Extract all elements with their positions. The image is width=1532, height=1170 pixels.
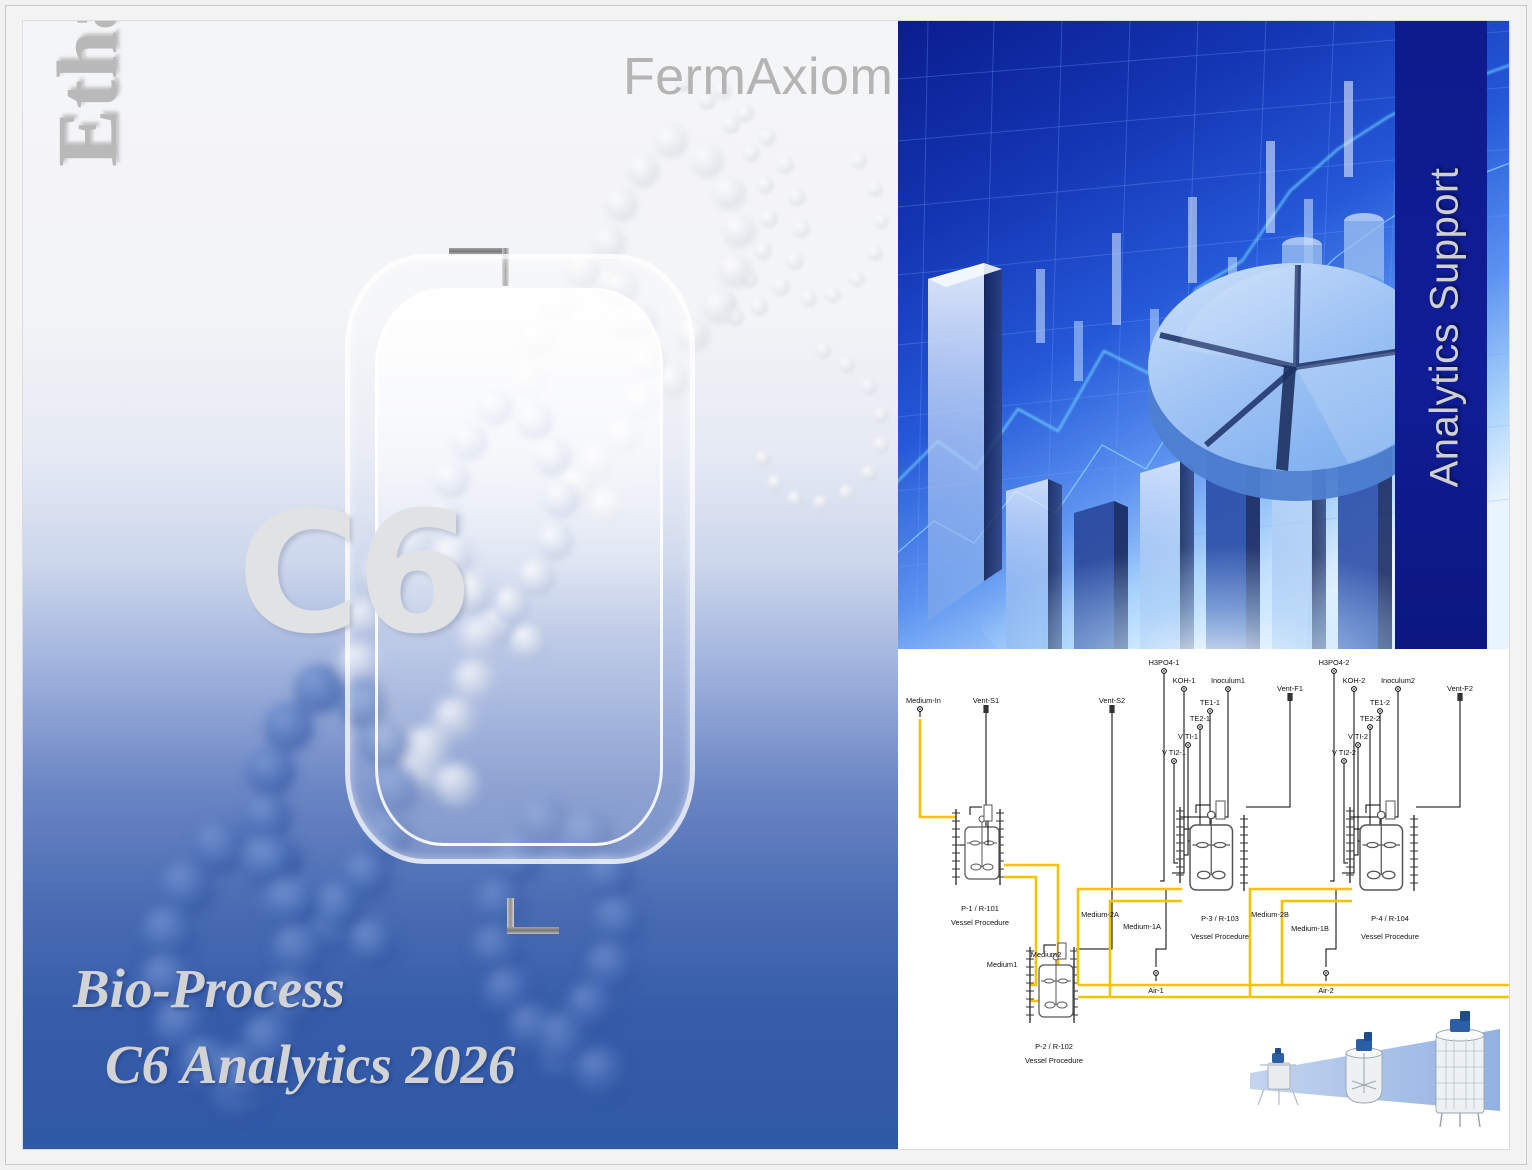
svg-text:KOH-2: KOH-2 [1343,676,1366,685]
svg-text:Air-1: Air-1 [1148,986,1164,995]
left-panel: C6 Ethanol FermAxiom Bio-Process C6 Anal… [23,21,898,1149]
svg-text:V TI2-1: V TI2-1 [1162,748,1186,757]
svg-text:V TI-1: V TI-1 [1178,732,1198,741]
svg-text:Vent-S2: Vent-S2 [1099,696,1125,705]
svg-text:Vessel Procedure: Vessel Procedure [1361,932,1419,941]
svg-text:Medium-1A: Medium-1A [1123,922,1161,931]
svg-text:P-1 / R-101: P-1 / R-101 [961,904,999,913]
svg-text:TE1-1: TE1-1 [1200,698,1220,707]
process-flow-diagram: Medium-In Vent-S1 [898,649,1509,1149]
svg-text:P-3 / R-103: P-3 / R-103 [1201,914,1239,923]
svg-text:Medium-1B: Medium-1B [1291,924,1329,933]
slide-title: Bio-Process C6 Analytics 2026 [73,951,516,1103]
brand-name: FermAxiom [623,47,893,107]
slide-inner-frame: C6 Ethanol FermAxiom Bio-Process C6 Anal… [22,20,1510,1150]
c6-logo: C6 [23,489,683,657]
svg-text:Medium-In: Medium-In [906,696,941,705]
svg-text:Inoculum2: Inoculum2 [1381,676,1415,685]
svg-text:Medium-2B: Medium-2B [1251,910,1289,919]
svg-text:Vessel Procedure: Vessel Procedure [951,918,1009,927]
svg-text:Medium-2A: Medium-2A [1081,910,1119,919]
svg-text:Medium2: Medium2 [1031,950,1061,959]
vessel-outlet-pipe-icon [501,898,559,934]
svg-text:Vessel Procedure: Vessel Procedure [1191,932,1249,941]
analytics-support-band: Analytics Support [1395,21,1487,649]
title-line-1: Bio-Process [73,951,516,1027]
title-line-2: C6 Analytics 2026 [73,1027,516,1103]
svg-text:KOH-1: KOH-1 [1173,676,1196,685]
svg-text:V TI-2: V TI-2 [1348,732,1368,741]
svg-text:TE2-2: TE2-2 [1360,714,1380,723]
svg-text:Vent-S1: Vent-S1 [973,696,999,705]
svg-text:H3PO4-1: H3PO4-1 [1149,658,1180,667]
svg-text:Vent-F2: Vent-F2 [1447,684,1473,693]
svg-text:TE2-1: TE2-1 [1190,714,1210,723]
svg-text:V TI2-2: V TI2-2 [1332,748,1356,757]
svg-text:Vent-F1: Vent-F1 [1277,684,1303,693]
svg-text:P-2 / R-102: P-2 / R-102 [1035,1042,1073,1051]
vertical-label-ethanol: Ethanol [37,21,157,167]
svg-text:Medium1: Medium1 [987,960,1017,969]
svg-text:H3PO4-2: H3PO4-2 [1319,658,1350,667]
svg-text:P-4 / R-104: P-4 / R-104 [1371,914,1409,923]
slide-root: C6 Ethanol FermAxiom Bio-Process C6 Anal… [0,0,1532,1170]
svg-text:Inoculum1: Inoculum1 [1211,676,1245,685]
svg-text:Vessel Procedure: Vessel Procedure [1025,1056,1083,1065]
right-column: Analytics Support [898,21,1509,1149]
svg-text:Air-2: Air-2 [1318,986,1334,995]
svg-text:TE1-2: TE1-2 [1370,698,1390,707]
vertical-label-analytics-support: Analytics Support [1423,21,1468,638]
